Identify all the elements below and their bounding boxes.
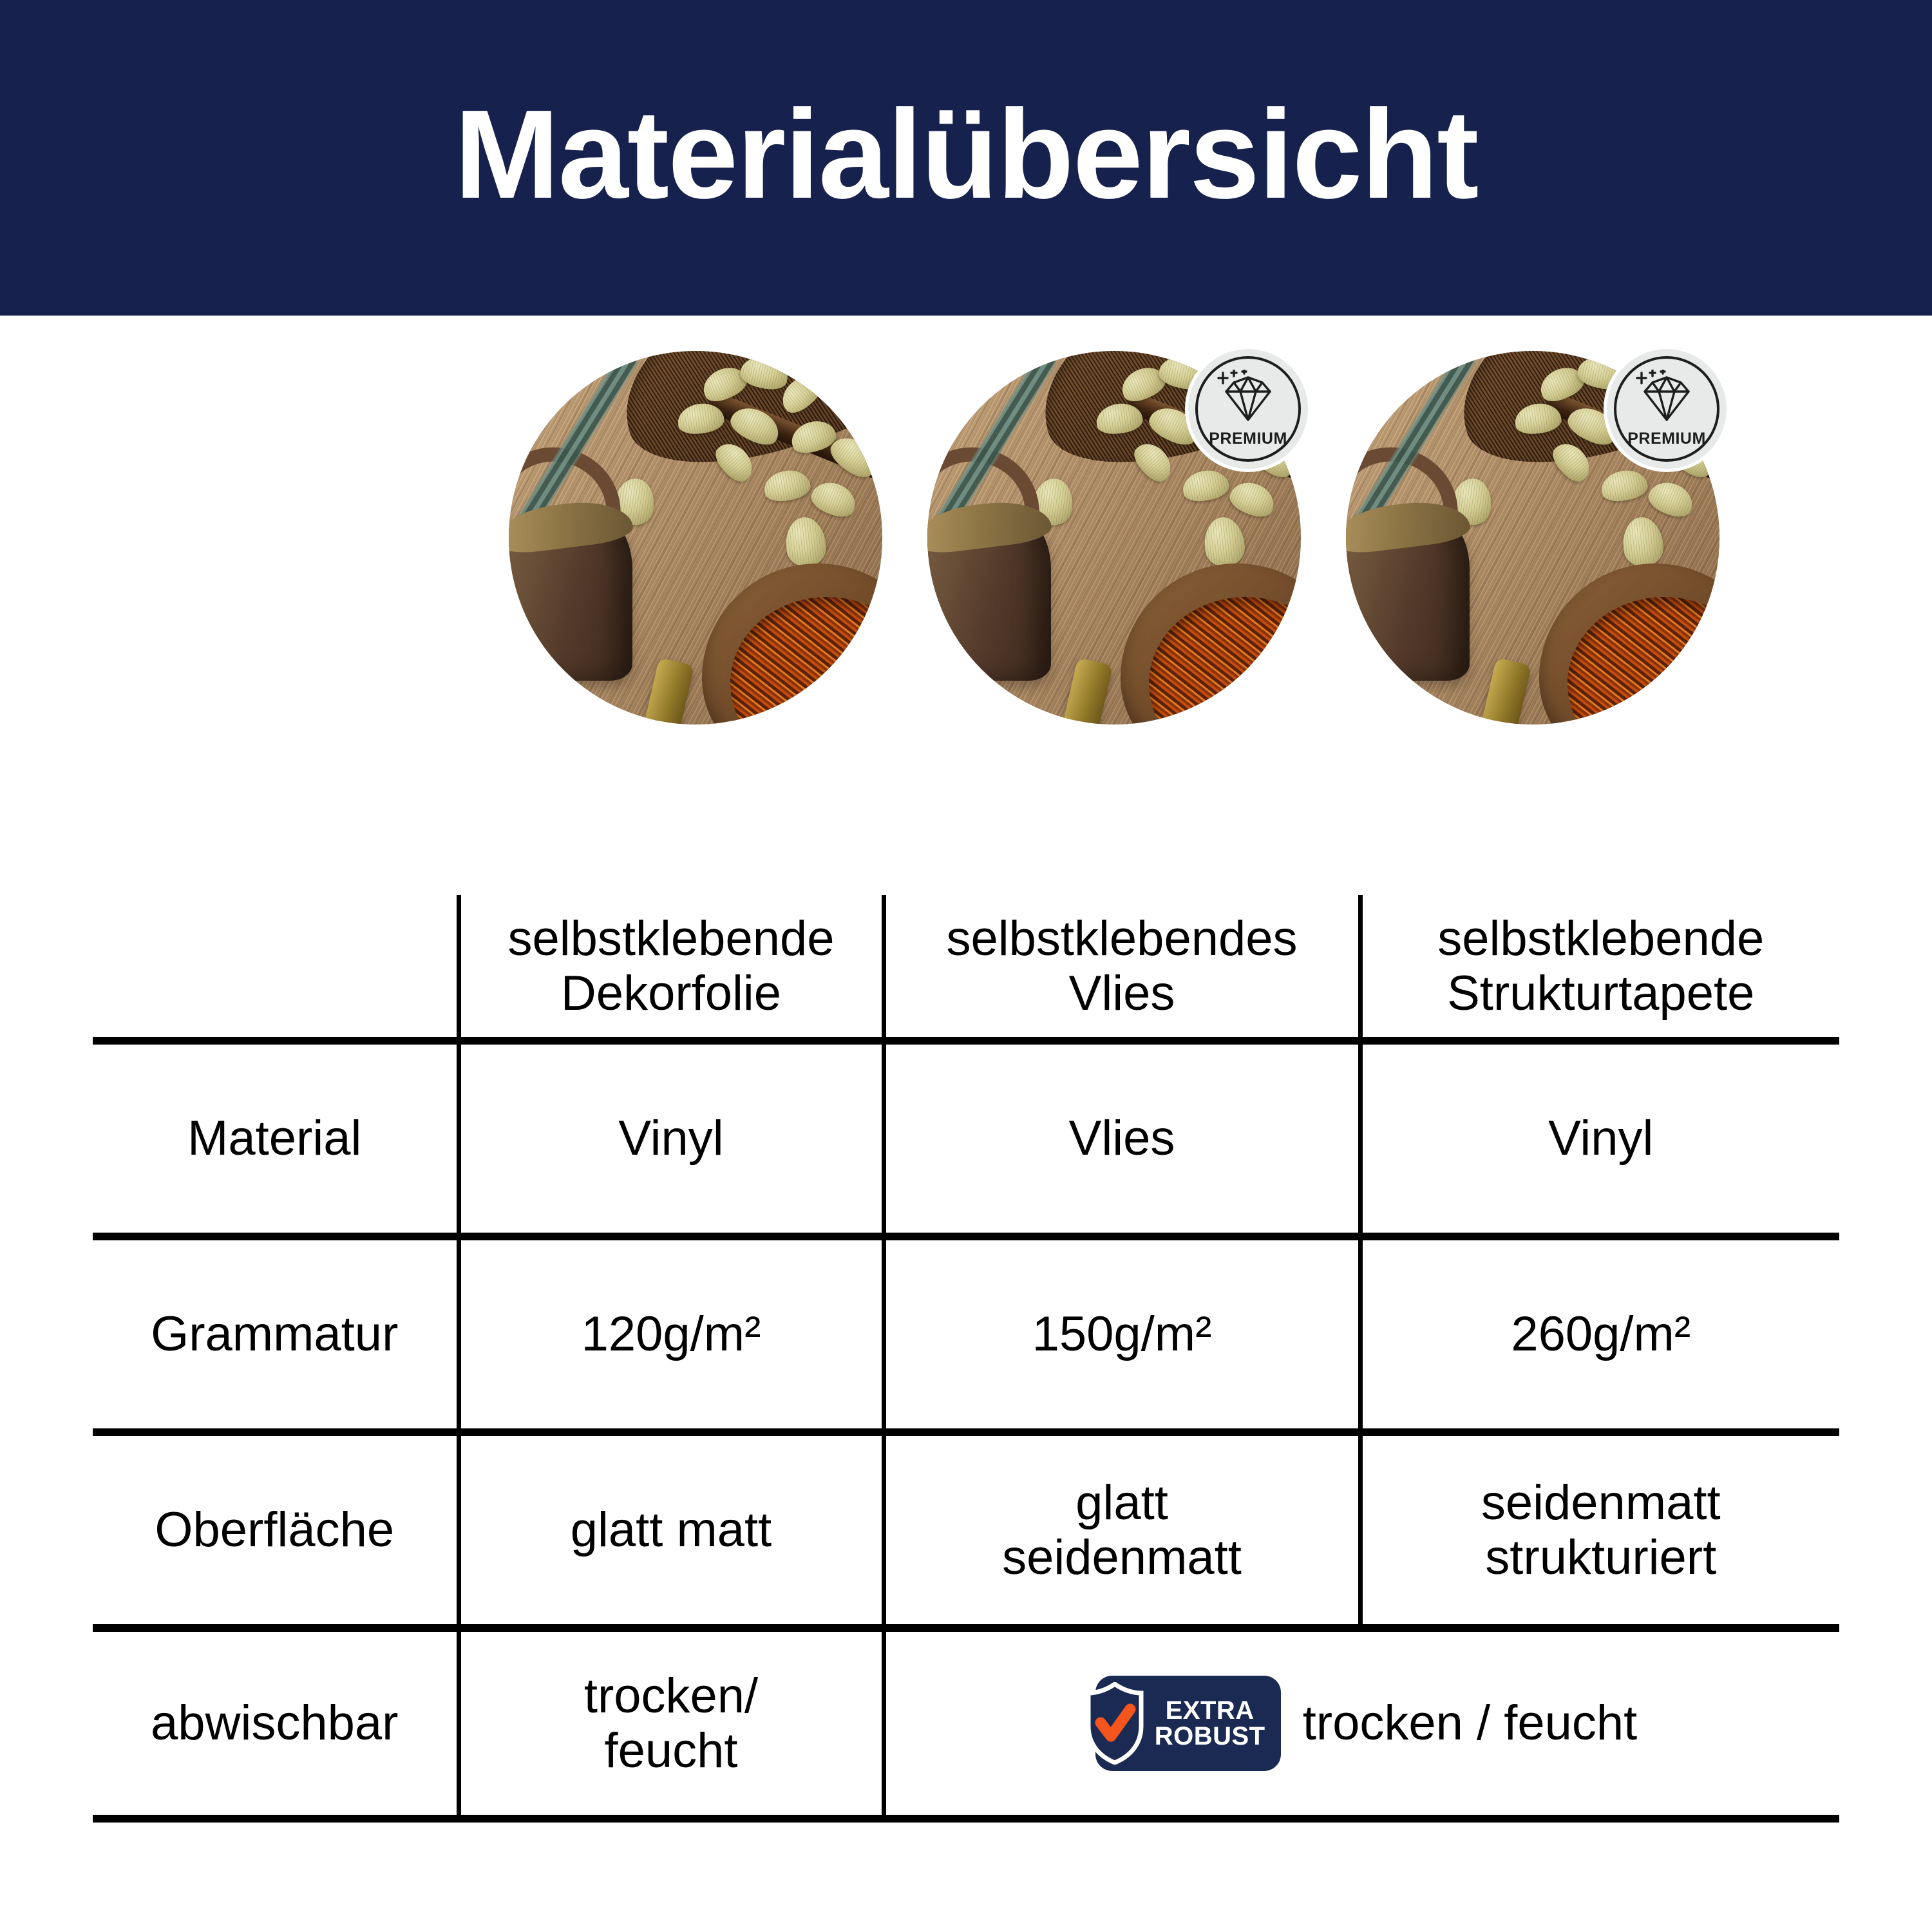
extra-robust-badge: EXTRA ROBUST (1095, 1676, 1281, 1771)
cell-abwischbar-merged-text: trocken / feucht (1303, 1696, 1638, 1750)
cell-line1: trocken/ (468, 1669, 875, 1723)
table-header-row: selbstklebende Dekorfolie selbstklebende… (93, 895, 1839, 1041)
column-header-line2: Vlies (893, 966, 1352, 1021)
diamond-icon (1215, 370, 1282, 427)
column-header-line1: selbstklebendes (893, 911, 1352, 966)
rooibos-tea (1567, 597, 1719, 724)
column-header-strukturtapete: selbstklebende Strukturtapete (1360, 895, 1839, 1041)
table-row-oberflaeche: Oberfläche glatt matt glatt seidenmatt s… (93, 1432, 1839, 1628)
extra-robust-text: EXTRA ROBUST (1155, 1698, 1265, 1749)
premium-badge: PREMIUM (1604, 346, 1730, 472)
cell-grammatur-dekorfolie: 120g/m² (459, 1236, 884, 1432)
rooibos-tea (730, 597, 882, 724)
table-row-grammatur: Grammatur 120g/m² 150g/m² 260g/m² (93, 1236, 1839, 1432)
premium-badge-label: PREMIUM (1209, 430, 1287, 448)
header-corner-cell (93, 895, 459, 1041)
cell-grammatur-strukturtapete: 260g/m² (1360, 1236, 1839, 1432)
product-preview-3[interactable]: PREMIUM (1346, 351, 1719, 724)
row-label-oberflaeche: Oberfläche (93, 1432, 459, 1628)
column-header-dekorfolie: selbstklebende Dekorfolie (459, 895, 884, 1041)
cell-line2: seidenmatt (893, 1530, 1352, 1585)
cell-material-strukturtapete: Vinyl (1360, 1041, 1839, 1236)
table-row-abwischbar: abwischbar trocken/ feucht (93, 1628, 1839, 1815)
page-title: Materialübersicht (455, 91, 1478, 218)
cell-line2: feucht (468, 1723, 875, 1778)
table-bottom-rule (93, 1815, 1839, 1823)
table-row-material: Material Vinyl Vlies Vinyl (93, 1041, 1839, 1236)
header-banner: Materialübersicht (0, 0, 1932, 316)
shield-check-icon (1085, 1682, 1144, 1765)
row-label-abwischbar: abwischbar (93, 1628, 459, 1815)
diamond-icon (1633, 370, 1700, 427)
column-header-line2: Dekorfolie (468, 966, 875, 1021)
product-preview-2[interactable]: PREMIUM (927, 351, 1301, 724)
product-image-1 (509, 351, 882, 724)
material-photo (509, 351, 882, 724)
product-image-strip: PREMIUM (0, 351, 1932, 779)
cell-line1: glatt (893, 1475, 1352, 1530)
row-label-grammatur: Grammatur (93, 1236, 459, 1432)
cell-abwischbar-dekorfolie: trocken/ feucht (459, 1628, 884, 1815)
cell-grammatur-vlies: 150g/m² (884, 1236, 1360, 1432)
cell-material-dekorfolie: Vinyl (459, 1041, 884, 1236)
premium-badge-label: PREMIUM (1627, 430, 1706, 448)
cell-oberflaeche-dekorfolie: glatt matt (459, 1432, 884, 1628)
column-header-line2: Strukturtapete (1369, 966, 1833, 1021)
robust-line2: ROBUST (1155, 1723, 1265, 1749)
cell-abwischbar-merged: EXTRA ROBUST trocken / feucht (884, 1628, 1839, 1815)
column-header-line1: selbstklebende (468, 911, 875, 966)
rooibos-tea (1149, 597, 1301, 724)
material-spec-table: selbstklebende Dekorfolie selbstklebende… (93, 895, 1839, 1815)
cell-material-vlies: Vlies (884, 1041, 1360, 1236)
product-preview-1[interactable] (509, 351, 882, 724)
cell-line2: strukturiert (1369, 1530, 1833, 1585)
cell-oberflaeche-strukturtapete: seidenmatt strukturiert (1360, 1432, 1839, 1628)
robust-line1: EXTRA (1155, 1698, 1265, 1723)
cell-oberflaeche-vlies: glatt seidenmatt (884, 1432, 1360, 1628)
column-header-line1: selbstklebende (1369, 911, 1833, 966)
column-header-vlies: selbstklebendes Vlies (884, 895, 1360, 1041)
row-label-material: Material (93, 1041, 459, 1236)
cell-line1: seidenmatt (1369, 1475, 1833, 1530)
premium-badge: PREMIUM (1185, 346, 1311, 472)
